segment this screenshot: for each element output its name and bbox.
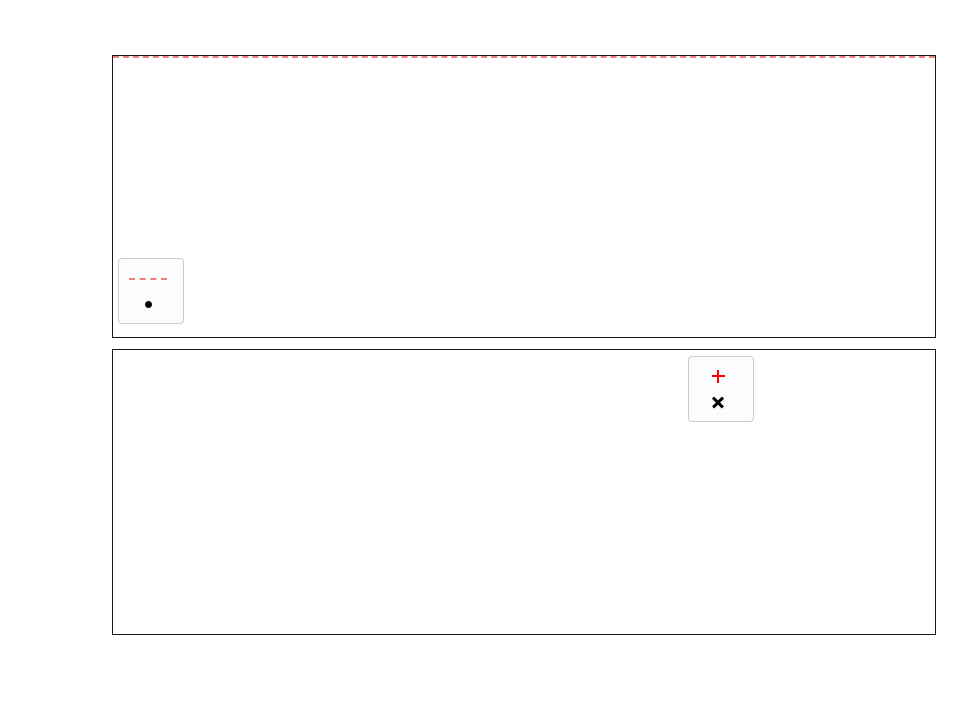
plot-area-bottom [113,350,935,634]
axes-matched-predicted-ratio [112,55,936,338]
cross-marker-icon [697,391,739,413]
legend-top[interactable] [118,258,184,324]
plot-area-top [113,56,935,337]
plus-marker-icon [697,365,739,387]
axes-star-counts [112,349,936,635]
figure-canvas [0,0,960,720]
dashed-line-icon [127,267,169,289]
legend-bottom[interactable] [688,356,754,422]
threshold-line [113,56,935,58]
legend-item-matched-stars[interactable] [697,363,743,389]
legend-item-measurements[interactable] [127,291,173,317]
dot-marker-icon [127,293,169,315]
legend-item-predicted-stars[interactable] [697,389,743,415]
legend-item-threshold[interactable] [127,265,173,291]
